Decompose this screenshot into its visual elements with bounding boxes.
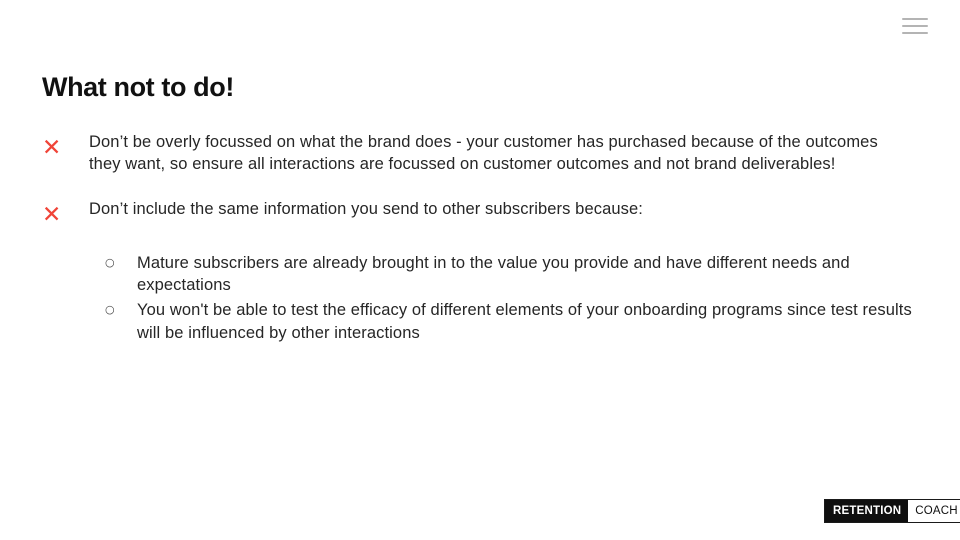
sub-bullet-list: ○ Mature subscribers are already brought… bbox=[42, 252, 912, 345]
hamburger-bar-middle bbox=[902, 25, 928, 27]
sub-bullet-text: Mature subscribers are already brought i… bbox=[137, 252, 912, 297]
bullet-text: Don’t be overly focussed on what the bra… bbox=[89, 131, 912, 176]
hollow-circle-bullet-icon: ○ bbox=[42, 252, 137, 275]
hamburger-menu-icon[interactable] bbox=[902, 18, 928, 34]
x-mark-icon: ✕ bbox=[42, 198, 89, 232]
bullet-item: ✕ Don’t include the same information you… bbox=[42, 198, 912, 232]
bullet-item: ✕ Don’t be overly focussed on what the b… bbox=[42, 131, 912, 176]
sub-bullet-item: ○ You won't be able to test the efficacy… bbox=[42, 299, 912, 344]
hollow-circle-bullet-icon: ○ bbox=[42, 299, 137, 322]
hamburger-bar-top bbox=[902, 18, 928, 20]
sub-bullet-item: ○ Mature subscribers are already brought… bbox=[42, 252, 912, 297]
logo-secondary-text: COACH bbox=[908, 500, 960, 522]
bullet-text: Don’t include the same information you s… bbox=[89, 198, 912, 220]
logo-primary-text: RETENTION bbox=[825, 500, 908, 522]
x-mark-icon: ✕ bbox=[42, 131, 89, 165]
retention-coach-logo: RETENTION COACH bbox=[824, 499, 960, 523]
sub-bullet-text: You won't be able to test the efficacy o… bbox=[137, 299, 912, 344]
hamburger-bar-bottom bbox=[902, 32, 928, 34]
content-body: ✕ Don’t be overly focussed on what the b… bbox=[42, 131, 912, 344]
slide-canvas: What not to do! ✕ Don’t be overly focuss… bbox=[0, 0, 960, 540]
page-title: What not to do! bbox=[42, 73, 234, 103]
